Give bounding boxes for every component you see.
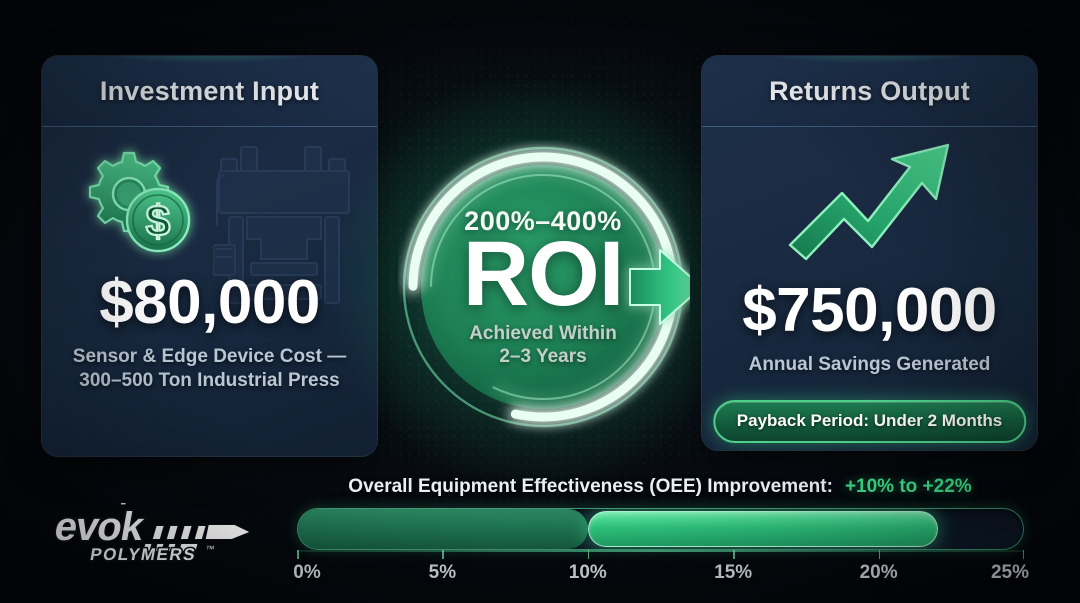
investment-caption-line2: 300–500 Ton Industrial Press [56, 369, 363, 393]
oee-progress-track [297, 508, 1024, 550]
oee-progress-bar [297, 508, 1024, 550]
axis-tick-label: 25% [991, 562, 1029, 584]
axis-tick [442, 550, 444, 559]
svg-text:evok: evok [51, 504, 148, 549]
axis-tick [588, 550, 590, 559]
svg-text:™: ™ [204, 544, 215, 554]
svg-text:$: $ [146, 197, 170, 246]
axis-tick-label: 20% [860, 562, 898, 584]
oee-label-text: Overall Equipment Effectiveness (OEE) Im… [348, 476, 833, 497]
roi-ring-graphic [398, 140, 690, 440]
gear-dollar-icon: $ [66, 141, 206, 261]
returns-panel-header: Returns Output [702, 56, 1037, 127]
investment-caption: Sensor & Edge Device Cost — 300–500 Ton … [56, 345, 363, 394]
logo-subtext: POLYMERS [89, 544, 198, 564]
investment-panel-body: $ $80,000 Sensor & Edge Device Cost — 30… [42, 127, 377, 456]
infographic-canvas: Investment Input [0, 0, 1080, 603]
investment-input-panel: Investment Input [42, 56, 377, 456]
investment-panel-header: Investment Input [42, 56, 377, 127]
returns-panel-body: $750,000 Annual Savings Generated Paybac… [702, 127, 1037, 450]
status-badge-payback: Payback Period: Under 2 Months [713, 400, 1026, 443]
investment-amount: $80,000 [42, 267, 377, 338]
growth-arrow-icon [780, 137, 960, 267]
axis-tick-label: 15% [714, 562, 752, 584]
axis-tick [1023, 550, 1025, 559]
page-title-investment: Investment Input [100, 76, 319, 107]
oee-label-row: Overall Equipment Effectiveness (OEE) Im… [300, 476, 1020, 498]
axis-tick-label: 0% [293, 562, 320, 584]
oee-progress-range-fill [588, 511, 938, 547]
returns-amount: $750,000 [702, 275, 1037, 346]
axis-tick [879, 550, 881, 559]
evok-polymers-logo: evok ̄ POLYMERS ™ [38, 500, 278, 570]
oee-progress-base-fill [298, 509, 588, 549]
oee-axis-line [297, 550, 1024, 552]
page-title-returns: Returns Output [769, 76, 970, 107]
returns-output-panel: Returns Output $750,000 Annual Savings G… [702, 56, 1037, 450]
axis-tick [733, 550, 735, 559]
axis-tick [297, 550, 299, 559]
roi-badge: 200%–400% ROI Achieved Within 2–3 Years [398, 140, 690, 440]
returns-caption: Annual Savings Generated [716, 353, 1023, 377]
oee-axis: 0%5%10%15%20%25% [297, 550, 1024, 594]
investment-caption-line1: Sensor & Edge Device Cost — [56, 345, 363, 369]
axis-tick-label: 10% [569, 562, 607, 584]
oee-value: +10% to +22% [845, 476, 972, 497]
axis-tick-label: 5% [429, 562, 456, 584]
